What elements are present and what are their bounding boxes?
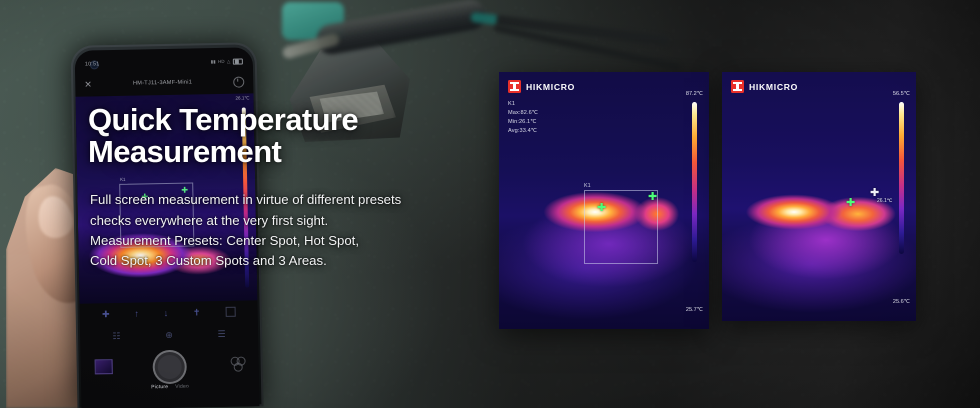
headline-line-1: Quick Temperature	[88, 102, 358, 137]
promo-copy: Quick Temperature Measurement Full scree…	[88, 104, 488, 271]
promo-description: Full screen measurement in virtue of dif…	[90, 190, 488, 270]
headline-line-2: Measurement	[88, 134, 281, 169]
promo-banner: 10:51 ▮▮ HD △ ✕ HM-TJ11-3AMF-Mini1 26.1℃…	[0, 0, 980, 408]
body-line-4: Cold Spot, 3 Custom Spots and 3 Areas.	[90, 251, 488, 271]
body-line-1: Full screen measurement in virtue of dif…	[90, 190, 488, 210]
body-line-2: checks everywhere at the very first sigh…	[90, 211, 488, 231]
page-title: Quick Temperature Measurement	[88, 104, 488, 168]
body-line-3: Measurement Presets: Center Spot, Hot Sp…	[90, 231, 488, 251]
